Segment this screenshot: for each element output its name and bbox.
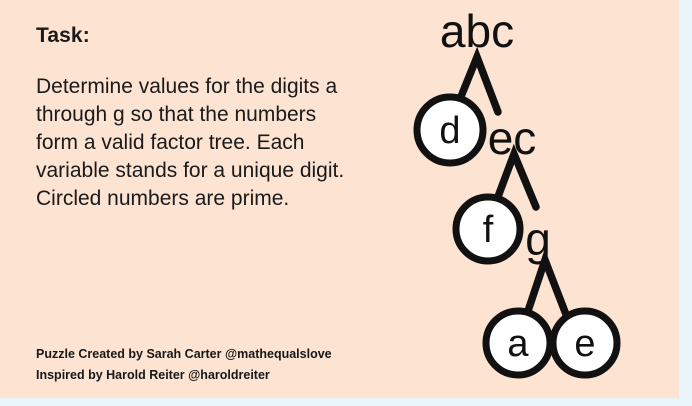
node-label-d: d bbox=[439, 110, 460, 152]
node-label-a: a bbox=[507, 323, 529, 365]
node-label-ec: ec bbox=[488, 112, 537, 164]
node-label-e: e bbox=[574, 323, 595, 365]
task-panel: Task: Determine values for the digits a … bbox=[36, 24, 366, 213]
slide-canvas: Task: Determine values for the digits a … bbox=[0, 0, 679, 398]
factor-tree-svg: abc ec g d f a e bbox=[390, 0, 679, 398]
branch-g bbox=[527, 260, 567, 317]
node-circled-a: a bbox=[486, 311, 550, 375]
node-circled-d: d bbox=[417, 97, 483, 163]
node-label-g: g bbox=[525, 213, 551, 265]
credit-line-inspiration: Inspired by Harold Reiter @haroldreiter bbox=[36, 365, 332, 386]
task-description: Determine values for the digits a throug… bbox=[36, 73, 356, 213]
task-heading: Task: bbox=[36, 24, 366, 47]
node-circled-f: f bbox=[456, 197, 520, 261]
credit-line-author: Puzzle Created by Sarah Carter @mathequa… bbox=[36, 344, 332, 365]
factor-tree-diagram: abc ec g d f a e bbox=[390, 0, 679, 398]
node-label-abc: abc bbox=[440, 5, 514, 57]
credits-block: Puzzle Created by Sarah Carter @mathequa… bbox=[36, 344, 332, 386]
node-label-f: f bbox=[483, 209, 494, 251]
node-circled-e: e bbox=[553, 311, 617, 375]
